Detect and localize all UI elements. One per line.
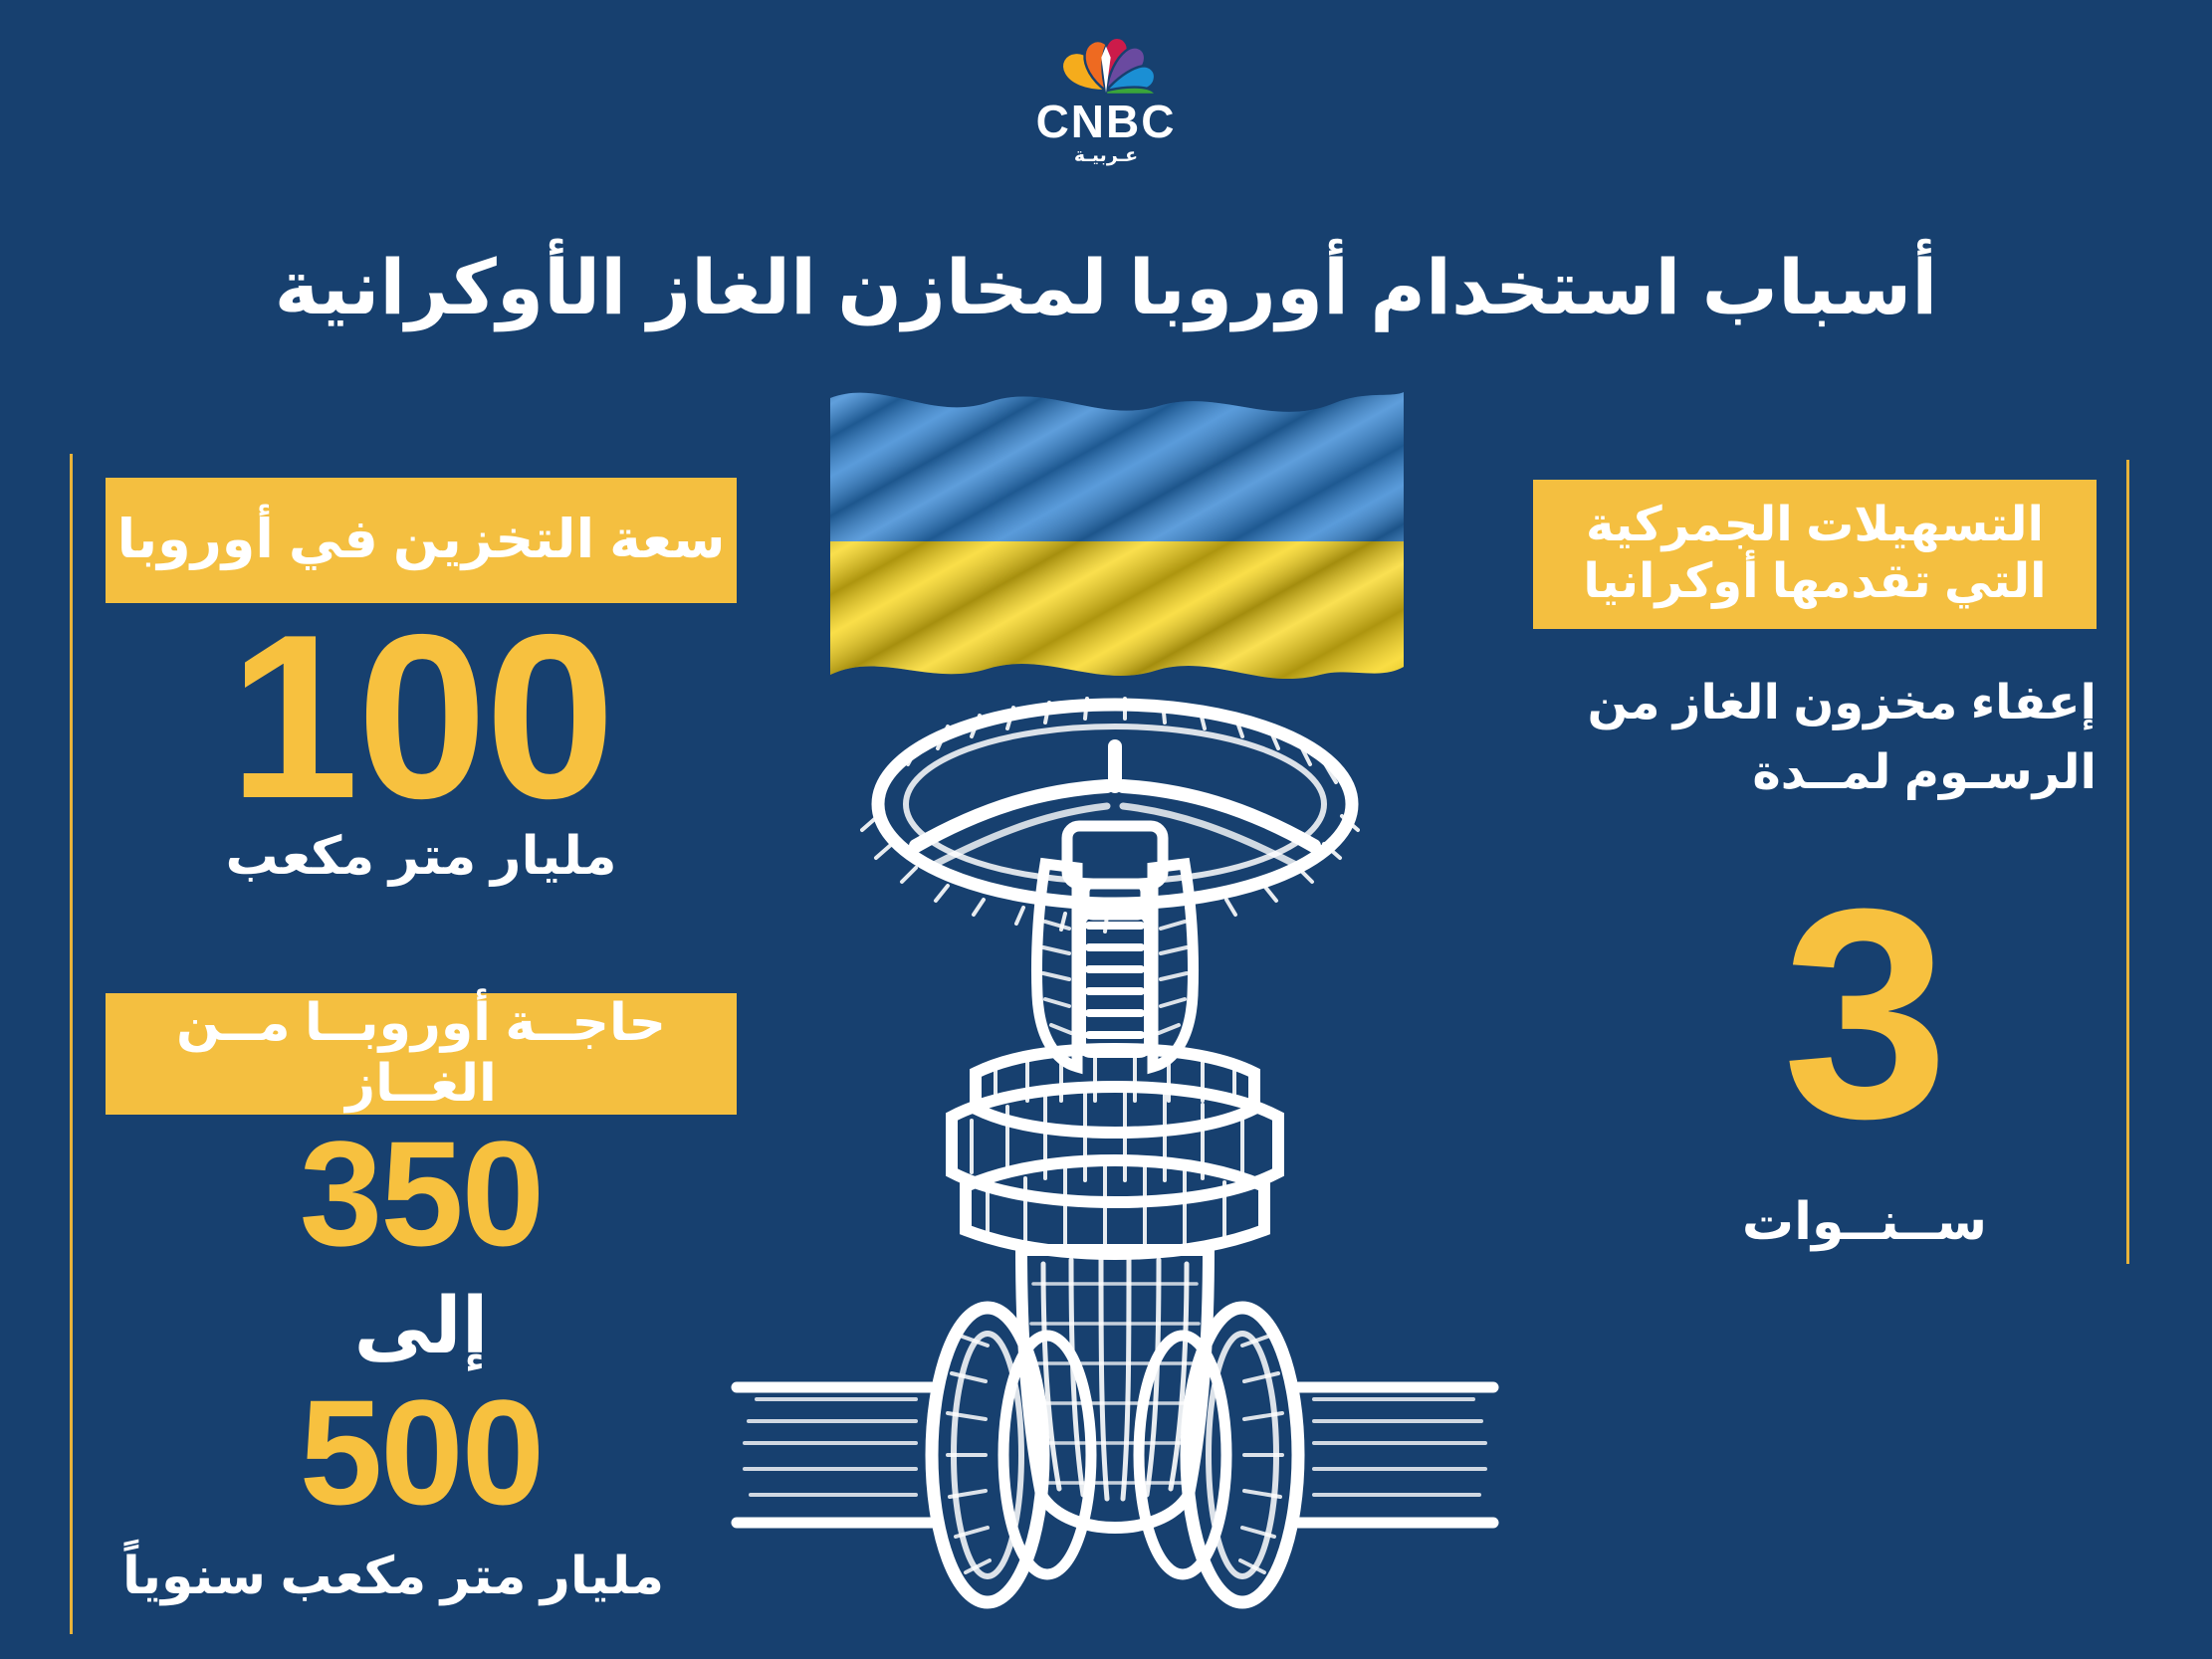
customs-facilities-label: التسهيلات الجمركية التي تقدمها أوكرانيا — [1533, 480, 2097, 629]
gate-valve-illustration — [617, 687, 1613, 1659]
gas-demand-label: حاجــة أوروبــا مــن الغــاز — [106, 993, 737, 1115]
ukraine-flag — [822, 376, 1410, 705]
page-title: أسباب استخدام أوروبا لمخازن الغاز الأوكر… — [0, 246, 2212, 330]
cnbc-wordmark-arabic: عـربيـة — [1074, 146, 1138, 165]
right-vertical-rule — [2126, 460, 2129, 1264]
storage-capacity-unit: مليار متر مكعب — [106, 828, 737, 886]
gas-demand-conjunction: إلى — [106, 1284, 737, 1369]
gas-demand-value-low: 350 — [106, 1125, 737, 1262]
gas-demand-value-high: 500 — [106, 1383, 737, 1521]
cnbc-wordmark: CNBC — [1036, 99, 1177, 144]
brand-logo-block: CNBC عـربيـة — [0, 26, 2212, 165]
customs-facilities-description: إعفاء مخزون الغاز من الرسـوم لمــدة — [1501, 669, 2097, 807]
exemption-duration-unit: ســنــوات — [1633, 1194, 2097, 1251]
storage-capacity-value: 100 — [106, 609, 737, 824]
left-vertical-rule — [70, 454, 73, 1634]
exemption-duration-value: 3 — [1633, 876, 2097, 1150]
cnbc-peacock-icon — [1047, 26, 1165, 95]
gas-demand-unit: مليار متر مكعب سنوياً — [50, 1549, 737, 1605]
